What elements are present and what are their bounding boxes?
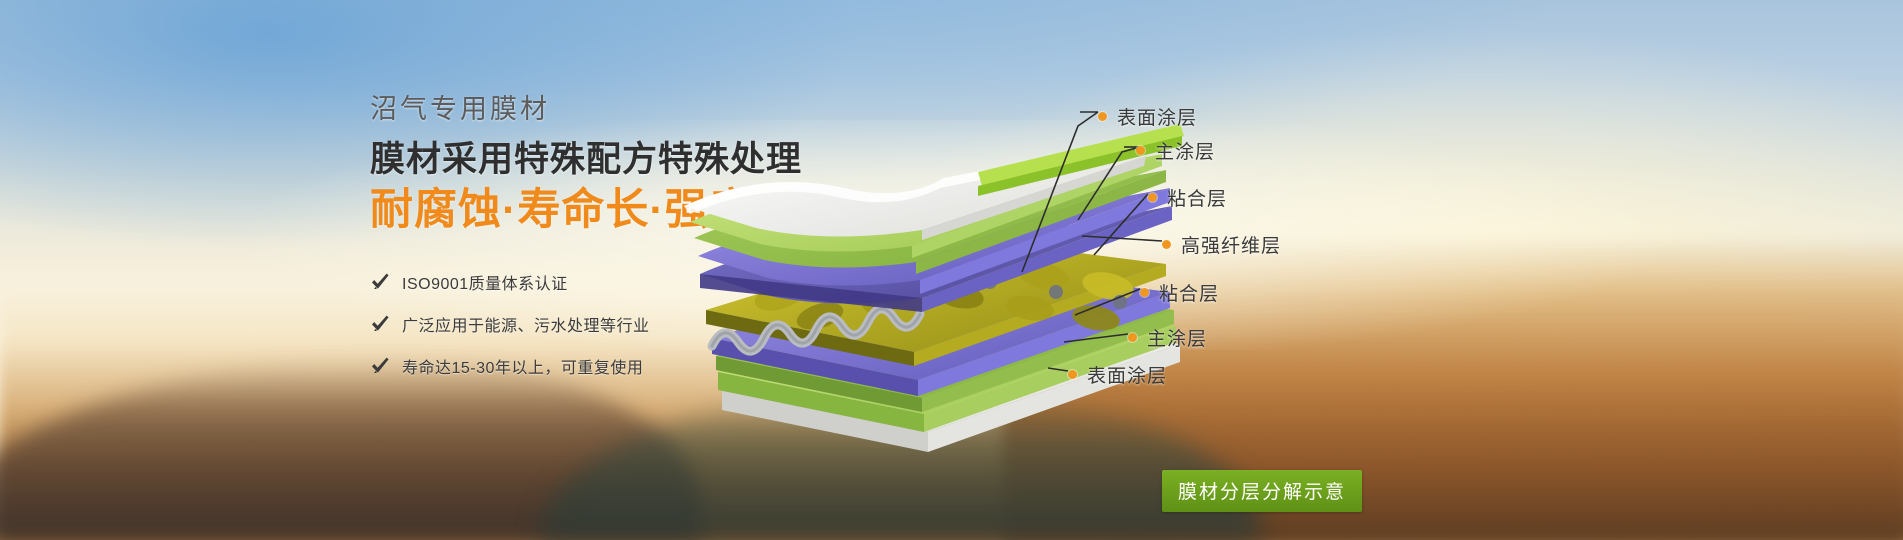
list-item-label: 寿命达15-30年以上，可重复使用	[402, 354, 643, 378]
bullet-dot-icon	[1068, 370, 1077, 379]
bullet-dot-icon	[1148, 193, 1157, 202]
callout-adhesive-bottom: 粘合层	[1140, 279, 1219, 306]
list-item-label: ISO9001质量体系认证	[402, 270, 568, 294]
callout-label: 高强纤维层	[1181, 231, 1281, 258]
hero-banner: 沼气专用膜材 膜材采用特殊配方特殊处理 耐腐蚀·寿命长·强度高 ISO9001质…	[0, 0, 1903, 540]
bullet-dot-icon	[1136, 146, 1145, 155]
list-item-label: 广泛应用于能源、污水处理等行业	[402, 312, 650, 336]
bullet-dot-icon	[1140, 288, 1149, 297]
status-badge: 膜材分层分解示意	[1162, 470, 1362, 512]
callout-label: 表面涂层	[1117, 103, 1197, 130]
callout-label: 粘合层	[1159, 279, 1219, 306]
callout-adhesive-top: 粘合层	[1148, 184, 1227, 211]
callout-label: 主涂层	[1147, 324, 1207, 351]
callout-label: 表面涂层	[1087, 361, 1167, 388]
bullet-dot-icon	[1128, 333, 1137, 342]
callout-high-strength-fiber: 高强纤维层	[1162, 231, 1281, 258]
callout-label: 主涂层	[1155, 137, 1215, 164]
bullet-dot-icon	[1162, 240, 1171, 249]
callout-label: 粘合层	[1167, 184, 1227, 211]
check-mark-icon	[370, 314, 390, 334]
bullet-dot-icon	[1098, 112, 1107, 121]
callout-surface-coating-top: 表面涂层	[1098, 103, 1197, 130]
check-mark-icon	[370, 356, 390, 376]
callout-main-coating-top: 主涂层	[1136, 137, 1215, 164]
callout-main-coating-bottom: 主涂层	[1128, 324, 1207, 351]
callout-surface-coating-bottom: 表面涂层	[1068, 361, 1167, 388]
check-mark-icon	[370, 272, 390, 292]
